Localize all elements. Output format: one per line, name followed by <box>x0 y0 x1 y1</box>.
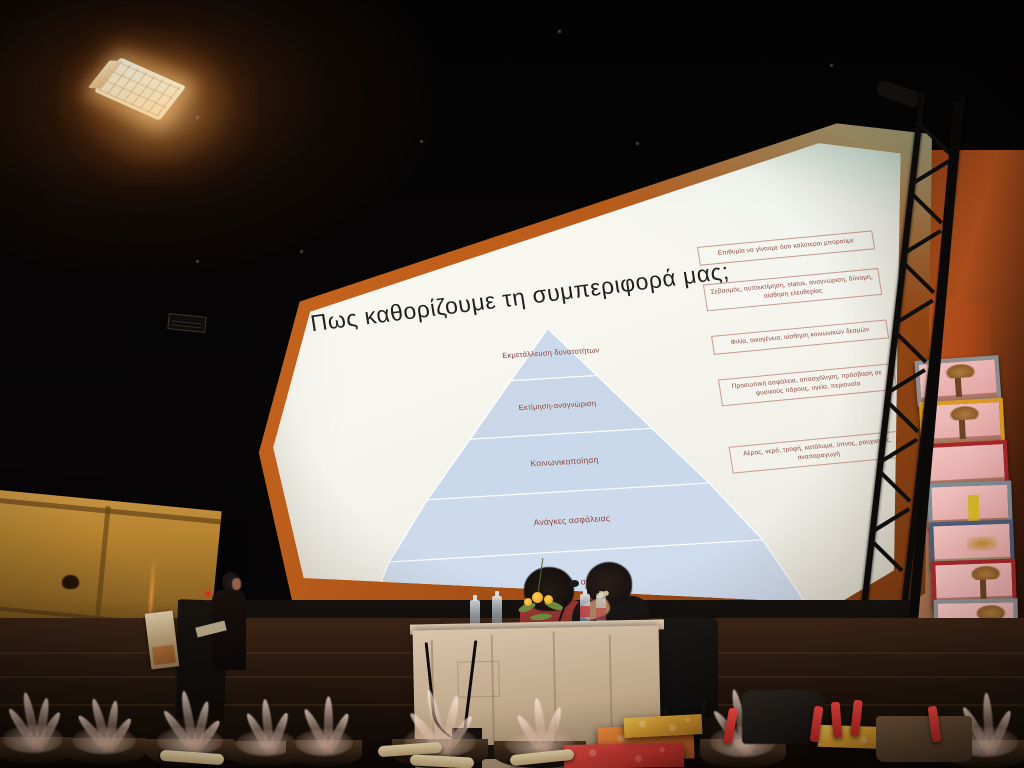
annotation-box-1: Επιθυμία να γίνουμε όσο καλύτεροι μπορού… <box>697 230 875 265</box>
annotation-box-3: Φιλία, οικογένεια, αίσθηση κοινωνικών δε… <box>711 319 889 354</box>
ceiling-speck <box>830 64 833 67</box>
audio-cable <box>425 630 556 752</box>
balcony-knob <box>62 575 79 589</box>
truss-brace <box>869 539 903 573</box>
water-bottle <box>492 596 502 626</box>
gift-box <box>624 714 703 738</box>
truss-brace <box>893 330 927 364</box>
seated-speaker-right-hair <box>586 562 632 604</box>
annotation-box-4: Προσωπική ασφάλεια, απασχόληση, πρόσβαση… <box>718 363 897 407</box>
truss-brace <box>877 469 911 503</box>
truss-brace <box>885 399 919 433</box>
gift-basket <box>876 716 972 762</box>
presenter-face <box>232 578 241 590</box>
truss-brace <box>901 260 935 294</box>
gift-box <box>564 743 684 768</box>
truss-brace <box>917 121 951 155</box>
ceiling-speck <box>196 260 199 263</box>
ceiling-speck <box>558 30 561 33</box>
table-microphone-head <box>570 580 579 587</box>
indicator-led <box>206 592 210 596</box>
photo-scene: Πως καθορίζουμε τη συμπεριφορά μας; Εκμε… <box>0 0 1024 768</box>
chair <box>660 618 718 718</box>
water-bottle <box>580 594 590 624</box>
annotation-box-2: Σεβασμός, αυτοεκτίμηση, status, αναγνώρι… <box>703 268 882 312</box>
truss-brace <box>909 191 943 225</box>
